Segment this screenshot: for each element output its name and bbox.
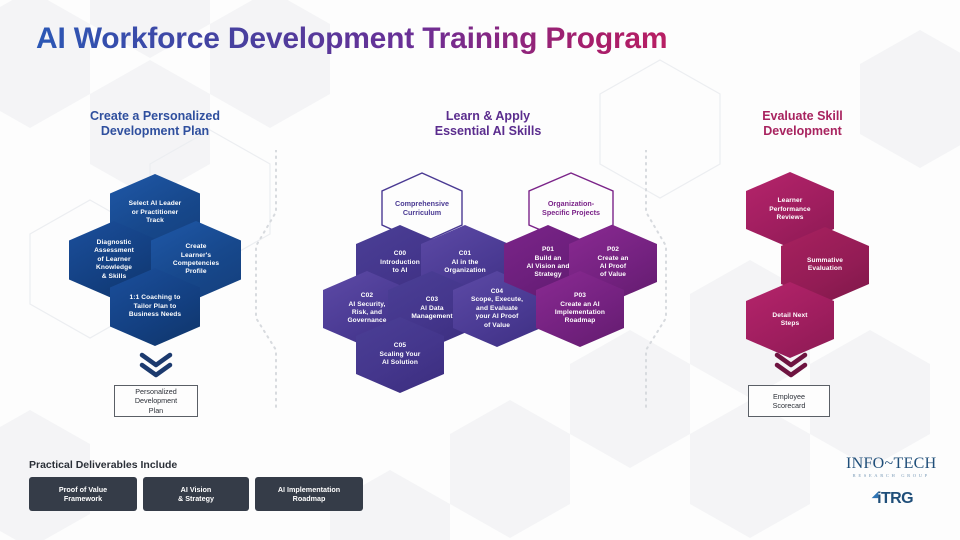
column-heading-evaluate-skill: Evaluate SkillDevelopment (705, 109, 900, 139)
column-heading-learn-apply: Learn & ApplyEssential AI Skills (388, 109, 588, 139)
info-tech-research-group-logo: INFO~TECH RESEARCH GROUP (846, 455, 936, 478)
outcome-label: EmployeeScorecard (773, 392, 806, 411)
hex-label: CreateLearner'sCompetenciesProfile (156, 243, 236, 277)
slide-canvas: AI Workforce Development Training Progra… (0, 0, 960, 540)
hex-label: ComprehensiveCurriculum (395, 199, 449, 218)
deliverable-item[interactable]: Proof of ValueFramework (29, 477, 137, 511)
hex-label: C05Scaling YourAI Solution (361, 342, 439, 367)
hex-label: SummativeEvaluation (786, 257, 864, 274)
section-divider-left (248, 150, 284, 410)
column-heading-create-plan: Create a PersonalizedDevelopment Plan (55, 109, 255, 139)
outcome-label: PersonalizedDevelopmentPlan (135, 387, 177, 416)
deliverables-row: Proof of ValueFramework AI Vision& Strat… (29, 477, 363, 511)
itrg-wordmark: iTRG (877, 490, 913, 507)
hex-label: P03Create an AIImplementationRoadmap (541, 292, 619, 326)
deliverables-title: Practical Deliverables Include (29, 459, 177, 471)
outcome-box-personalized-development-plan[interactable]: PersonalizedDevelopmentPlan (114, 385, 198, 417)
double-chevron-down-icon-left (139, 352, 173, 378)
info-tech-wordmark: INFO~TECH (846, 455, 936, 472)
hex-label: Organization-Specific Projects (542, 199, 600, 218)
outcome-box-employee-scorecard[interactable]: EmployeeScorecard (748, 385, 830, 417)
hex-label: C01AI in theOrganization (426, 250, 504, 275)
hex-label: LearnerPerformanceReviews (751, 197, 829, 222)
hex-label: Select AI Leaderor PractitionerTrack (115, 200, 195, 225)
deliverable-item[interactable]: AI ImplementationRoadmap (255, 477, 363, 511)
page-title: AI Workforce Development Training Progra… (36, 22, 667, 56)
double-chevron-down-icon-right (774, 352, 808, 378)
itrg-logo: ◢ iTRG (872, 490, 913, 507)
hex-label: 1:1 Coaching toTailor Plan toBusiness Ne… (115, 294, 195, 319)
hex-label: Detail NextSteps (751, 312, 829, 329)
deliverable-item[interactable]: AI Vision& Strategy (143, 477, 249, 511)
research-group-subtext: RESEARCH GROUP (846, 473, 936, 478)
hex-label: C04Scope, Execute,and Evaluateyour AI Pr… (458, 288, 536, 330)
